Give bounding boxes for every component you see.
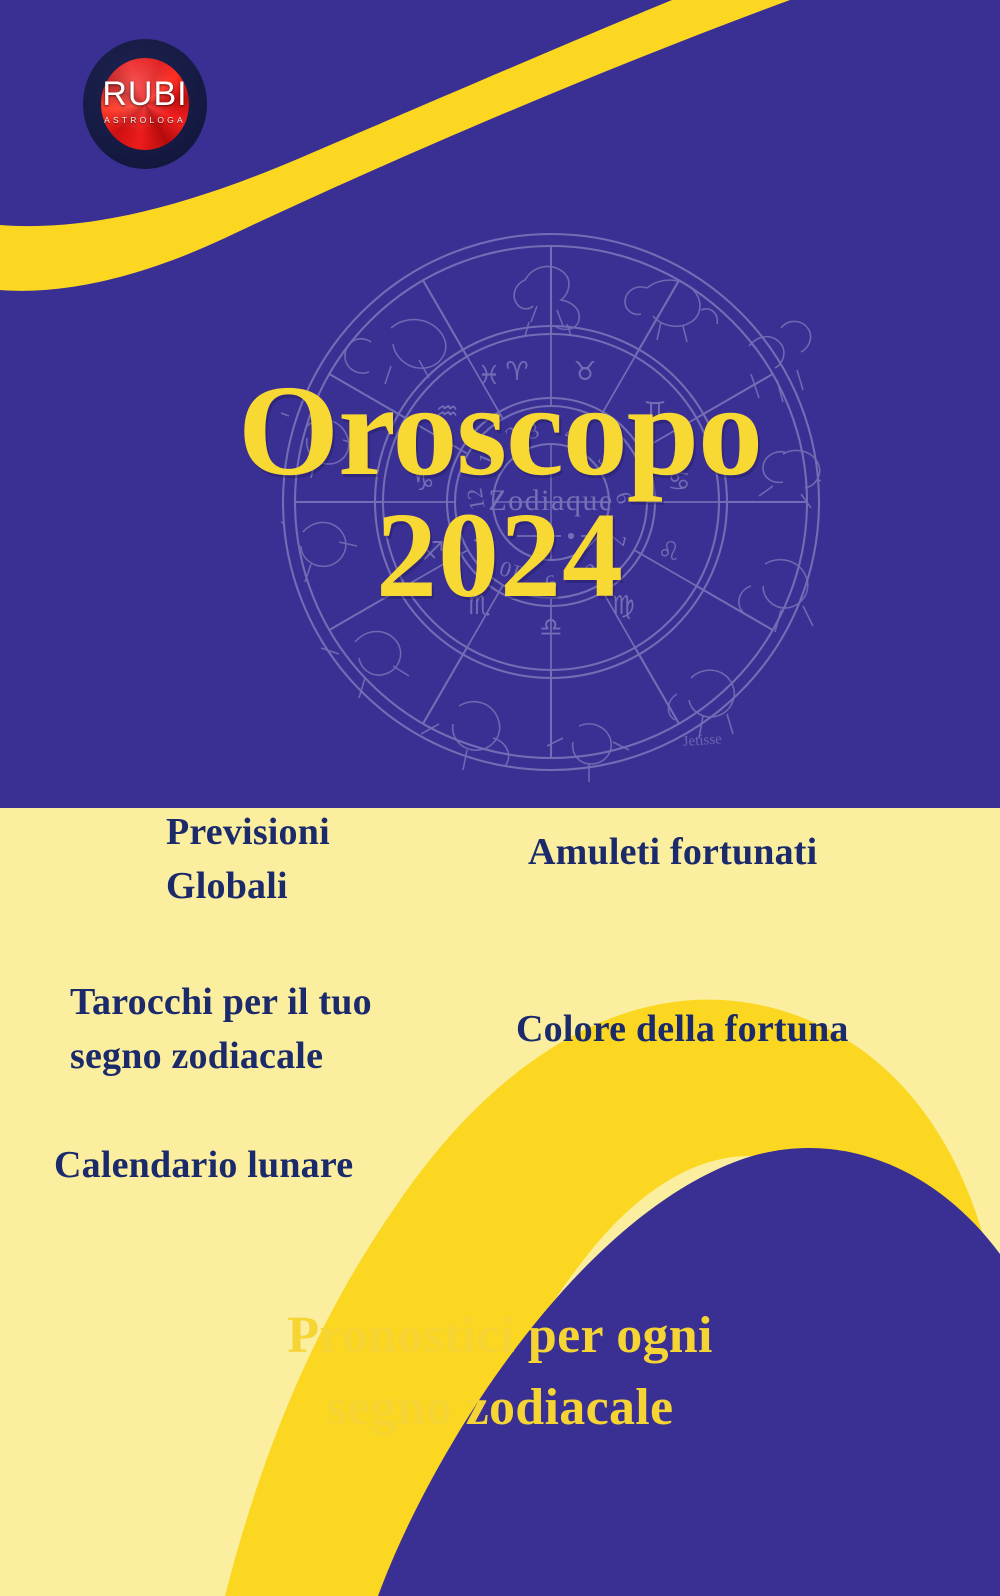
svg-text:♋: ♋	[667, 467, 690, 497]
feature-tarocchi-segno-zodiacale: Tarocchi per il tuo segno zodiacale	[70, 976, 372, 1084]
svg-text:♑: ♑	[411, 467, 434, 497]
wheel-center-flourish	[517, 534, 591, 538]
feature-colore-della-fortuna: Colore della fortuna	[516, 1003, 849, 1057]
svg-text:6: 6	[611, 489, 638, 507]
book-cover: ♈ ♉ ♊ ♋ ♌ ♍ ♎ ♏ ♐ ♑ ♒ ♓ 3 4 5	[0, 0, 1000, 1596]
svg-text:♏: ♏	[467, 591, 490, 621]
svg-text:9: 9	[542, 570, 559, 597]
feature-previsioni-globali: Previsioni Globali	[166, 806, 330, 914]
wheel-center-label: Zodiaque	[488, 484, 613, 517]
wheel-signature: Jetisse	[682, 731, 723, 750]
rubi-astrologa-logo[interactable]: RUBI ASTROLOGA	[83, 39, 207, 169]
svg-text:♈: ♈	[505, 357, 528, 387]
svg-text:8: 8	[580, 559, 606, 584]
svg-text:♊: ♊	[643, 397, 666, 427]
feature-calendario-lunare: Calendario lunare	[54, 1139, 353, 1193]
zodiac-wheel-illustration: ♈ ♉ ♊ ♋ ♌ ♍ ♎ ♏ ♐ ♑ ♒ ♓ 3 4 5	[281, 222, 821, 782]
svg-text:3: 3	[525, 417, 542, 444]
logo-tagline-text: ASTROLOGA	[83, 116, 207, 125]
svg-text:♌: ♌	[657, 537, 680, 567]
svg-text:♍: ♍	[611, 591, 634, 621]
footer-tagline: Pronostici per ogni segno zodiacale	[0, 1300, 1000, 1444]
feature-amuleti-fortunati: Amuleti fortunati	[528, 826, 817, 880]
svg-text:♐: ♐	[421, 537, 444, 567]
svg-text:1: 1	[472, 449, 499, 469]
svg-text:2: 2	[500, 421, 524, 447]
svg-text:♓: ♓	[477, 361, 500, 391]
svg-text:7: 7	[605, 531, 632, 548]
svg-text:♉: ♉	[573, 357, 596, 387]
svg-text:11: 11	[467, 525, 500, 557]
svg-text:♒: ♒	[435, 397, 458, 427]
svg-text:10: 10	[496, 556, 525, 587]
svg-text:12: 12	[461, 486, 489, 512]
svg-text:4: 4	[562, 419, 579, 446]
logo-brand-text: RUBI	[83, 77, 207, 111]
svg-text:♎: ♎	[539, 613, 562, 643]
